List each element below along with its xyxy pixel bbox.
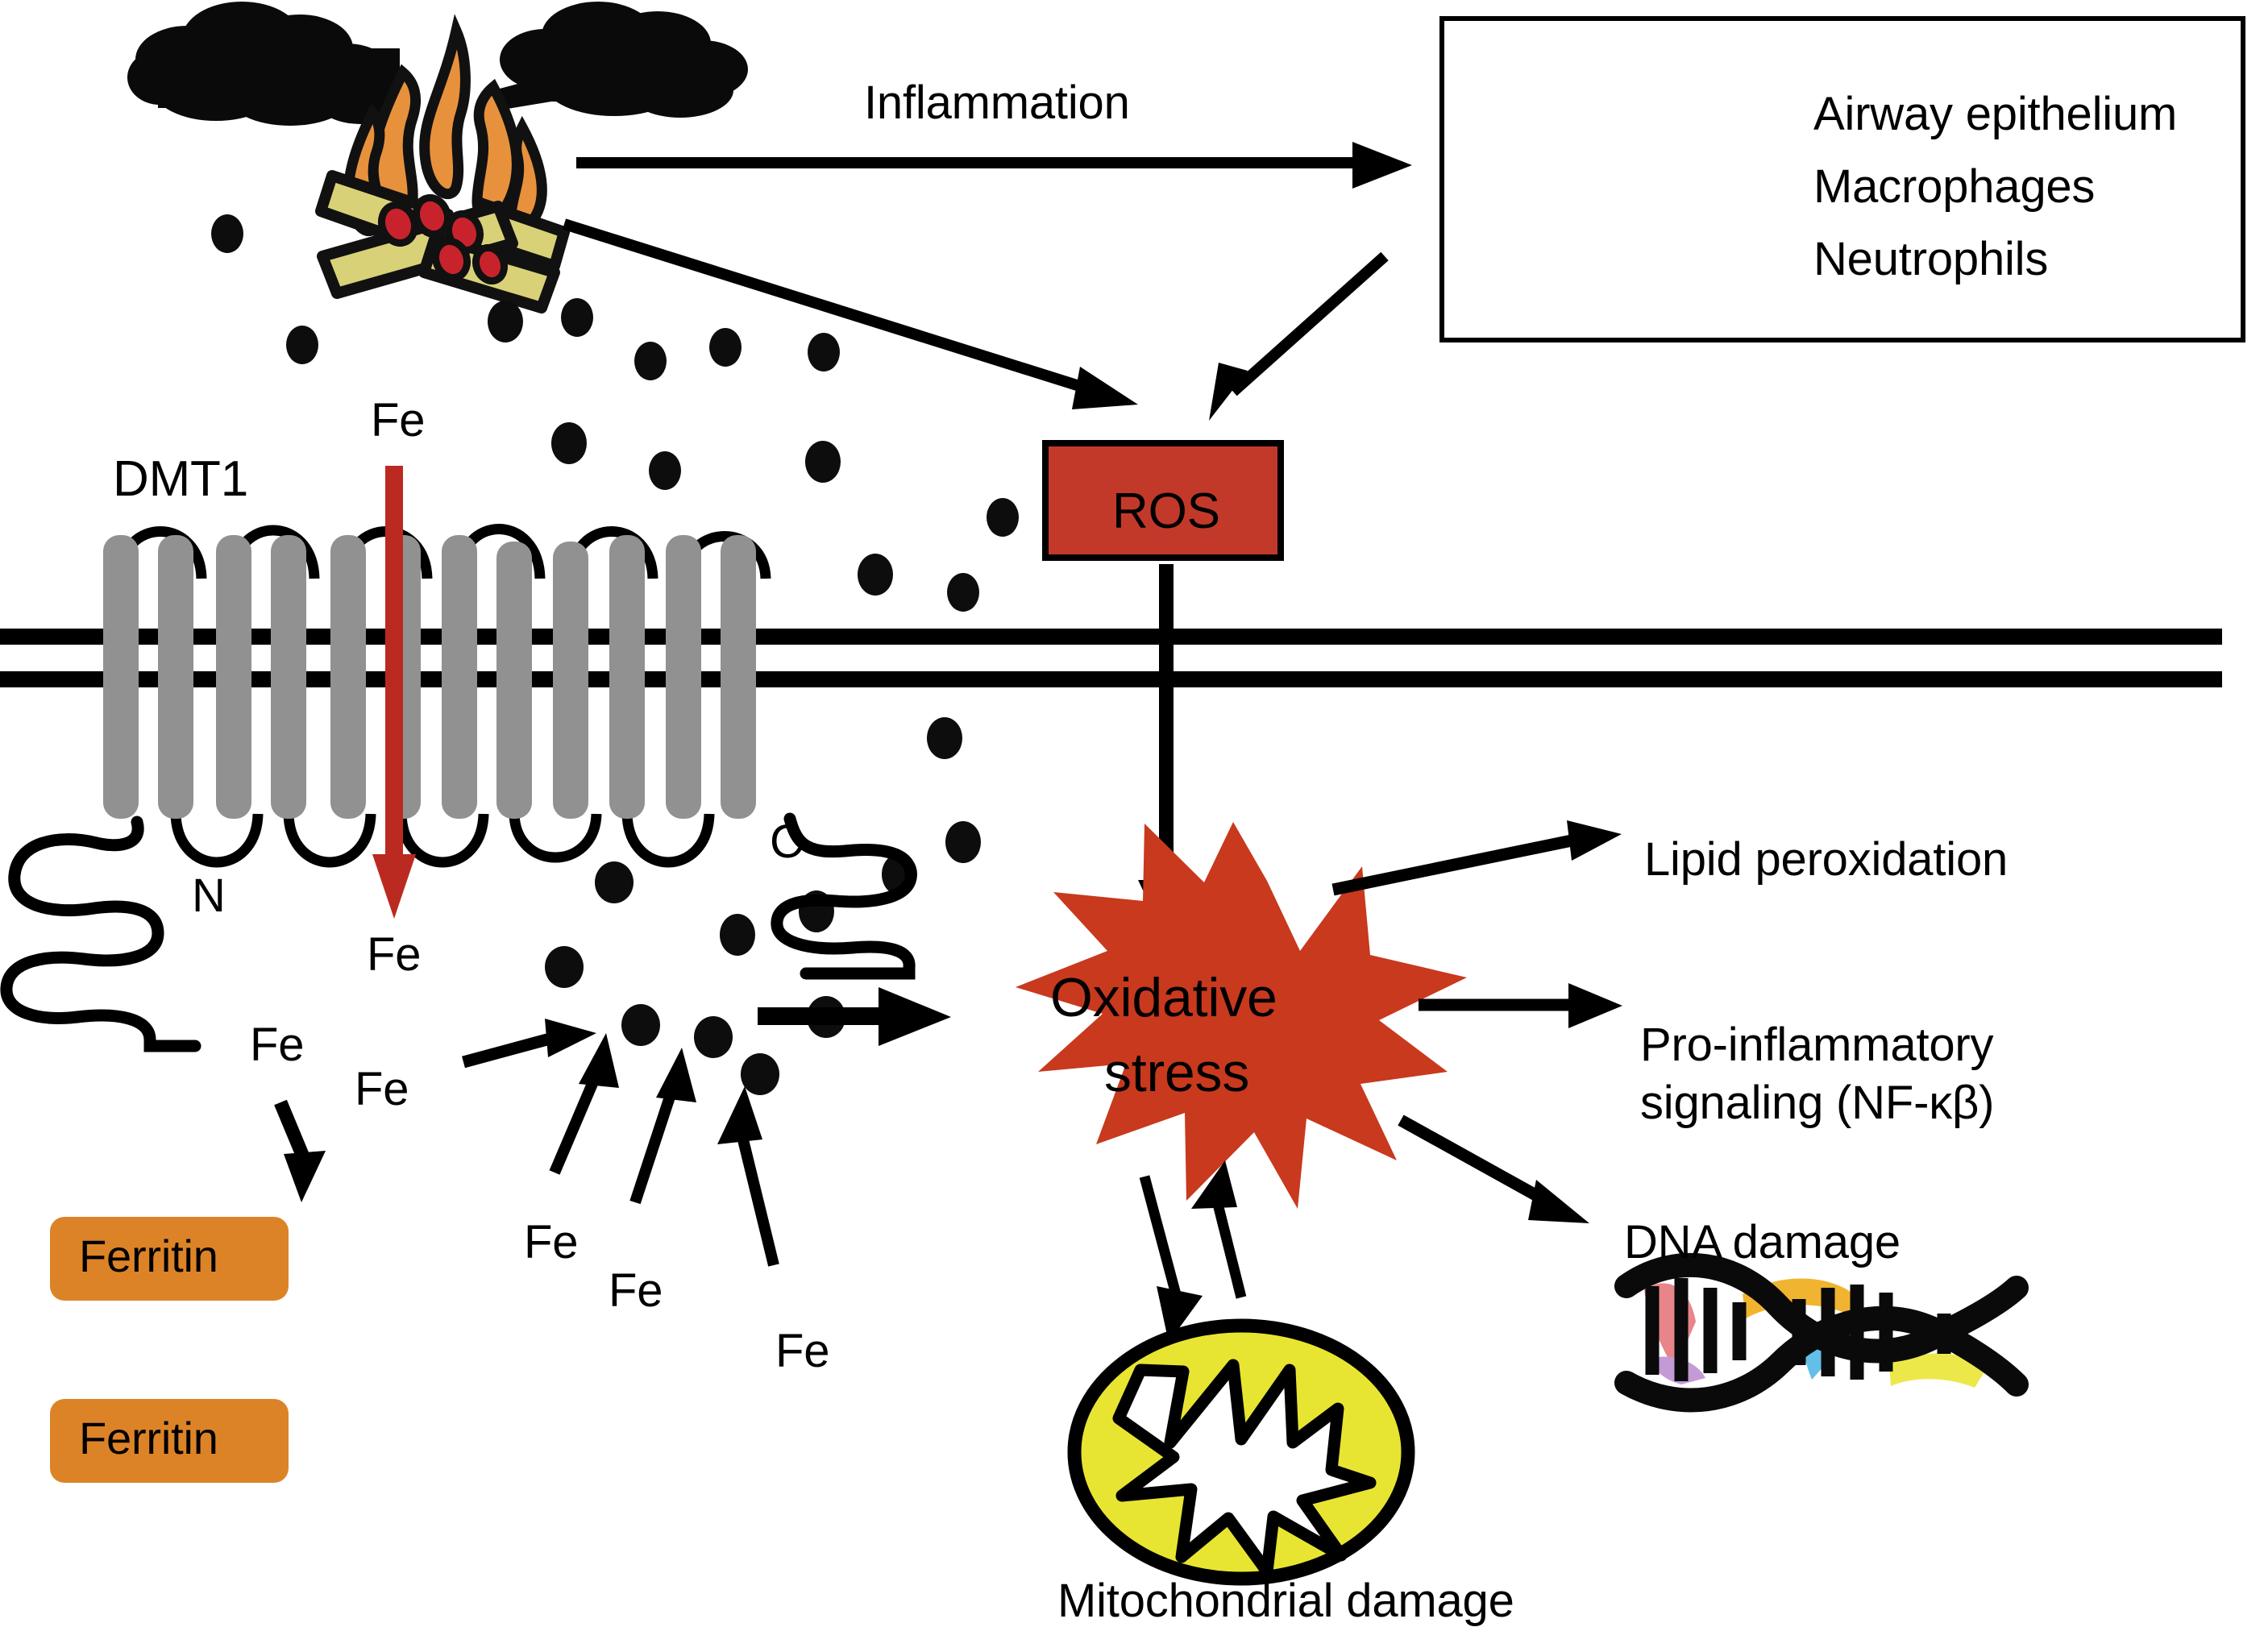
diagram-canvas: Airway epithelium Macrophages Neutrophil… xyxy=(0,0,2264,1652)
c-terminus-label: C xyxy=(770,816,804,869)
n-terminus-label: N xyxy=(192,870,226,923)
fe-d-arrow xyxy=(635,1048,696,1202)
fe-label-c: Fe xyxy=(524,1217,578,1269)
legend-label-macrophages: Macrophages xyxy=(1813,161,2095,214)
dna-double-helix-icon xyxy=(1626,1265,2017,1401)
fe-to-ferritin-arrow xyxy=(280,1102,326,1202)
proinflammatory-label-line1: Pro-inflammatory xyxy=(1640,1019,1993,1072)
legend-label-neutrophils: Neutrophils xyxy=(1813,234,2048,286)
fire-to-ros-arrow xyxy=(564,224,1138,409)
oxidative-to-dna-damage-arrow xyxy=(1401,1120,1589,1223)
fe-label-b: Fe xyxy=(355,1064,409,1116)
smoke-cloud-right-icon xyxy=(500,2,748,118)
smoke-cloud-left-icon xyxy=(127,2,419,126)
oxidative-stress-label-line2: stress xyxy=(1104,1042,1249,1103)
mitochondrion-icon xyxy=(1074,1326,1408,1579)
lipid-peroxidation-label: Lipid peroxidation xyxy=(1644,834,2008,886)
dmt1-label: DMT1 xyxy=(113,451,248,507)
mitochondrial-damage-label: Mitochondrial damage xyxy=(1057,1575,1514,1628)
oxidative-to-mitochondria-arrow xyxy=(1144,1177,1203,1343)
dmt1-transporter-icon xyxy=(6,529,911,1047)
fe-e-arrow xyxy=(717,1086,774,1265)
fe-to-pool-arrow xyxy=(463,1019,596,1062)
fe-label-d: Fe xyxy=(609,1265,663,1318)
legend-label-airway-epithelium: Airway epithelium xyxy=(1813,89,2177,141)
ros-label: ROS xyxy=(1112,484,1220,539)
fe-pool-to-oxidative-arrow xyxy=(758,987,951,1046)
oxidative-stress-label-line1: Oxidative xyxy=(1050,967,1277,1028)
proinflammatory-label-line2: signaling (NF-κβ) xyxy=(1640,1077,1994,1130)
fe-label-e: Fe xyxy=(775,1326,829,1378)
ferritin-label-1: Ferritin xyxy=(79,1231,218,1282)
fe-label-extracellular: Fe xyxy=(371,395,425,447)
fire-to-cells-arrow xyxy=(576,142,1412,189)
cells-to-ros-arrow xyxy=(1209,256,1385,421)
oxidative-to-lipid-peroxidation-arrow xyxy=(1333,820,1622,890)
fe-label-a: Fe xyxy=(250,1019,304,1072)
inflammation-label: Inflammation xyxy=(864,77,1130,130)
dna-damage-label: DNA damage xyxy=(1624,1217,1901,1269)
ferritin-label-2: Ferritin xyxy=(79,1413,218,1464)
oxidative-to-proinflammatory-arrow xyxy=(1419,983,1622,1028)
fe-label-intracellular: Fe xyxy=(367,929,421,982)
fe-c-arrow xyxy=(555,1033,619,1173)
